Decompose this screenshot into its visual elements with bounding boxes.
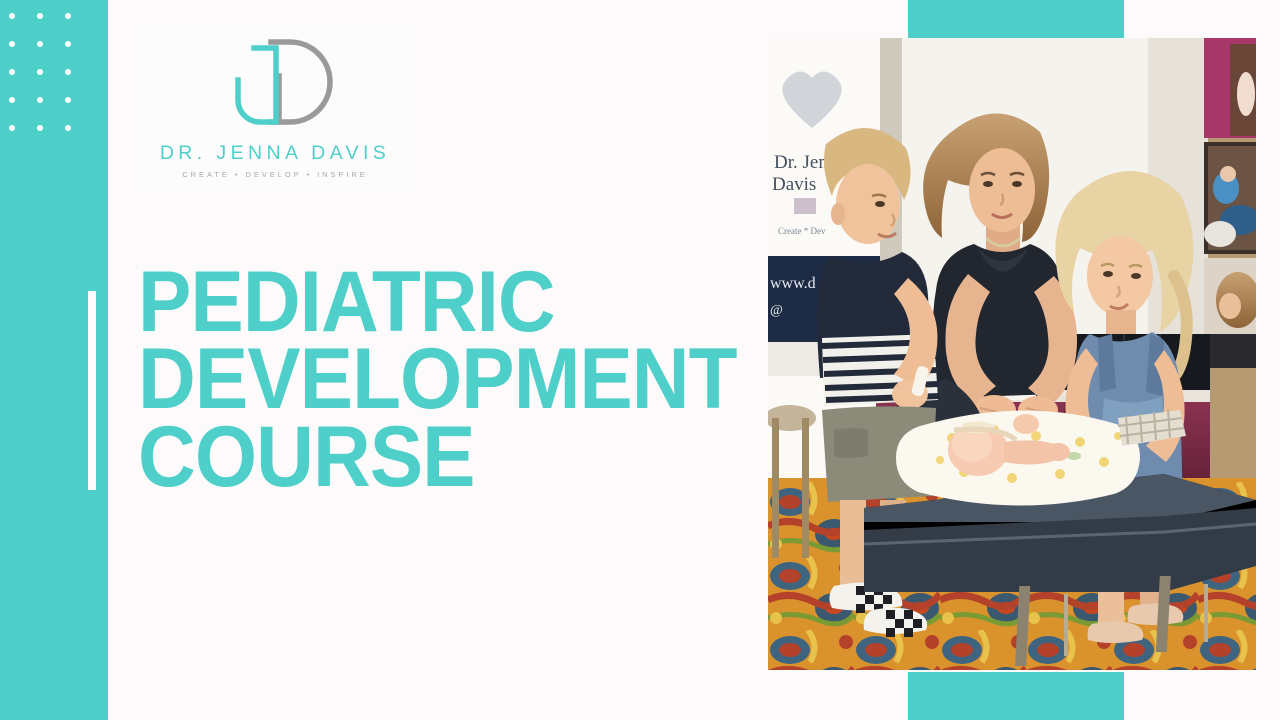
dot-pattern-dot (37, 41, 43, 47)
dot-pattern-dot (9, 41, 15, 47)
course-photo-illustration: Dr. Jen Davis Create * Dev www.d @ Dr. J… (768, 38, 1256, 670)
brand-logo-card: DR. JENNA DAVIS CREATE • DEVELOP • INSPI… (138, 24, 412, 190)
dot-pattern-dot (65, 97, 71, 103)
dot-pattern-dot (65, 13, 71, 19)
teal-accent-block-bottom (908, 672, 1124, 720)
svg-text:Davis: Davis (772, 174, 816, 195)
dot-pattern-dot (65, 41, 71, 47)
dot-pattern-dot (9, 13, 15, 19)
dot-pattern-dot (37, 69, 43, 75)
page-title-line-2: DEVELOPMENT (138, 341, 696, 418)
dot-pattern-dot (37, 125, 43, 131)
dot-pattern-dot (65, 125, 71, 131)
course-photo: Dr. Jen Davis Create * Dev www.d @ Dr. J… (768, 38, 1256, 670)
teal-accent-block-top (908, 0, 1124, 38)
brand-tagline-text: CREATE • DEVELOP • INSPIRE (182, 170, 368, 179)
svg-text:Create * Dev: Create * Dev (778, 226, 826, 236)
svg-text:www.d: www.d (770, 275, 816, 292)
dot-pattern-dot (9, 97, 15, 103)
page-title-line-1: PEDIATRIC (138, 264, 696, 341)
brand-name-text: DR. JENNA DAVIS (160, 142, 390, 165)
vertical-accent-bar (88, 291, 96, 490)
dot-pattern-dot (9, 69, 15, 75)
dot-pattern-dot (65, 69, 71, 75)
dot-pattern-decoration (0, 0, 108, 145)
dot-pattern-dot (9, 125, 15, 131)
jd-monogram-icon (216, 36, 334, 128)
dot-pattern-dot (37, 97, 43, 103)
svg-text:@: @ (770, 303, 783, 318)
svg-text:Dr. Jen: Dr. Jen (774, 152, 828, 173)
page-title: PEDIATRIC DEVELOPMENT COURSE (138, 264, 696, 496)
dot-pattern-dot (37, 13, 43, 19)
page-title-line-3: COURSE (138, 419, 696, 496)
